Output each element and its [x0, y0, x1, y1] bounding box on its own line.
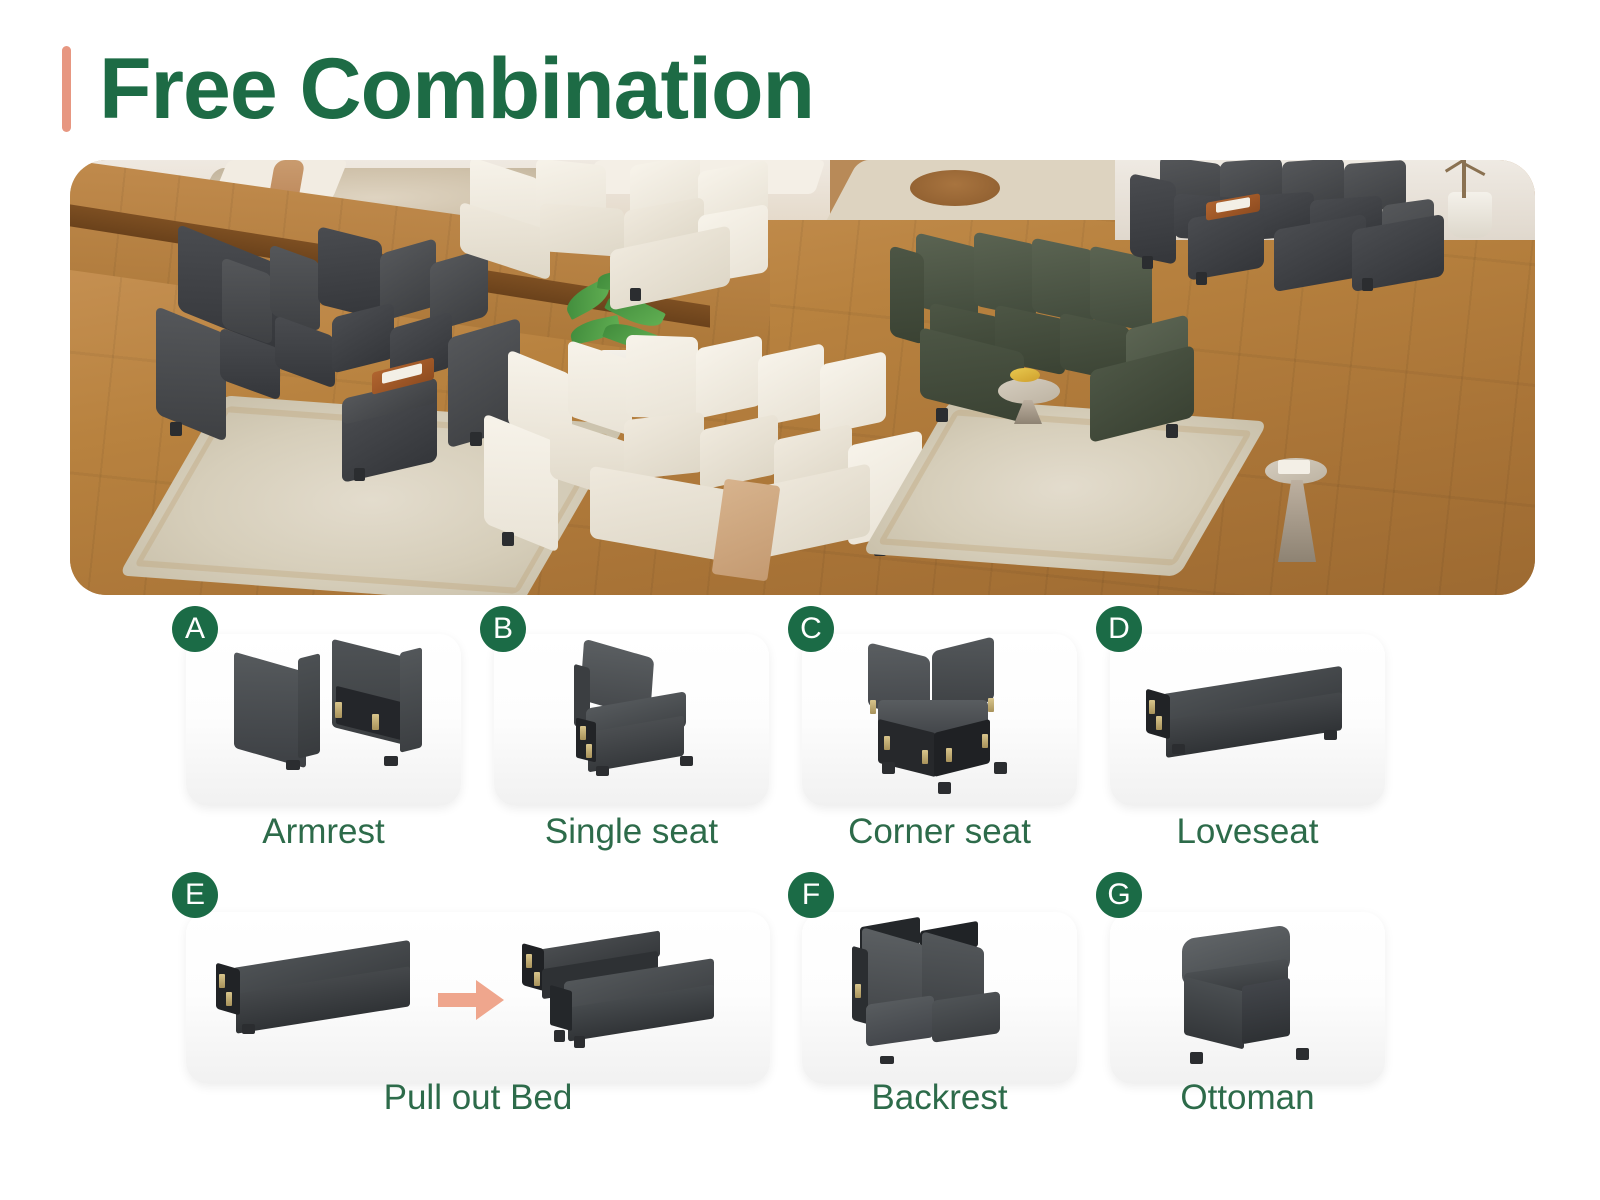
caption-single-seat: Single seat: [494, 812, 769, 852]
badge-b: B: [480, 606, 526, 652]
module-card-single-seat[interactable]: [494, 634, 769, 806]
sofa-cream-top-seat-2: [540, 203, 624, 257]
sofa-darkgray-corner: [318, 226, 382, 320]
page-title: Free Combination: [62, 46, 814, 132]
corner-seat-foot-3: [994, 762, 1007, 774]
title-accent-bar: [62, 46, 71, 132]
caption-corner-seat: Corner seat: [802, 812, 1077, 852]
pull-out-bed-open-foot-2: [574, 1036, 585, 1048]
sofa-cream-bottom-seat-2: [624, 412, 704, 480]
branch-plant-pot: [1448, 192, 1492, 238]
module-card-backrest[interactable]: [802, 912, 1077, 1084]
caption-pull-out-bed: Pull out Bed: [186, 1078, 770, 1118]
armrest-left-foot: [286, 760, 300, 770]
sofa-darkgray-tr-leg-2: [1196, 272, 1207, 285]
armrest-left-piece: [234, 656, 320, 762]
title-text: Free Combination: [99, 46, 814, 132]
side-table-paper: [1278, 460, 1310, 474]
badge-d: D: [1096, 606, 1142, 652]
sofa-cream-bottom-backrest-5: [820, 351, 886, 435]
sofa-darkgray-tr-leg-1: [1142, 256, 1153, 269]
pull-out-bed-open-foot-1: [554, 1030, 565, 1042]
single-seat-foot-1: [596, 766, 609, 776]
sofa-olive-leg-2: [1166, 424, 1178, 438]
caption-armrest: Armrest: [186, 812, 461, 852]
transform-arrow-icon: [438, 980, 504, 1020]
sofa-olive-armrest-left: [890, 245, 924, 345]
sofa-darkgray-tr-leg-3: [1362, 278, 1373, 291]
sofa-cream-bottom-corner: [626, 335, 698, 420]
background-coffee-table: [910, 170, 1000, 206]
sofa-darkgray-tr-armrest-left: [1130, 173, 1176, 265]
armrest-right-piece: [332, 648, 422, 762]
module-card-ottoman[interactable]: [1110, 912, 1385, 1084]
armrest-right-foot: [384, 756, 398, 766]
module-card-loveseat[interactable]: [1110, 634, 1385, 806]
pull-out-bed-open: [516, 940, 742, 1056]
caption-ottoman: Ottoman: [1110, 1078, 1385, 1118]
backrest-body: [850, 922, 1030, 1062]
single-seat-foot-2: [680, 756, 693, 766]
sofa-cream-bottom-backrest-4: [758, 343, 824, 427]
badge-g: G: [1096, 872, 1142, 918]
hero-scene: [70, 160, 1535, 595]
badge-e: E: [172, 872, 218, 918]
corner-seat-foot-1: [882, 762, 895, 774]
loveseat-foot-2: [1324, 730, 1337, 740]
module-card-armrest[interactable]: [186, 634, 461, 806]
hero-room-image: [70, 160, 1535, 595]
backrest-foot: [880, 1056, 894, 1064]
module-card-corner-seat[interactable]: [802, 634, 1077, 806]
ottoman-body: [1170, 932, 1330, 1060]
sofa-olive-backrest-3: [1032, 237, 1094, 324]
sofa-cream-bottom-backrest-3: [696, 335, 762, 419]
pull-out-bed-closed-foot: [242, 1024, 255, 1034]
badge-c: C: [788, 606, 834, 652]
ottoman-foot-1: [1190, 1052, 1203, 1064]
loveseat-foot-1: [1172, 744, 1185, 754]
badge-f: F: [788, 872, 834, 918]
sofa-olive-leg-1: [936, 408, 948, 422]
corner-seat-body: [860, 644, 1020, 780]
caption-backrest: Backrest: [802, 1078, 1077, 1118]
bowl-table-fruit: [1010, 368, 1040, 382]
sofa-cream-bottom-leg-1: [502, 532, 514, 546]
sofa-olive-backrest-2: [974, 231, 1036, 318]
ottoman-left-leg: [354, 468, 365, 481]
sofa-darkgray-leg-1: [170, 422, 182, 436]
module-card-pull-out-bed[interactable]: [186, 912, 770, 1084]
caption-loveseat: Loveseat: [1110, 812, 1385, 852]
ottoman-foot-2: [1296, 1048, 1309, 1060]
sofa-darkgray-leg-2: [470, 432, 482, 446]
badge-a: A: [172, 606, 218, 652]
corner-seat-foot-2: [938, 782, 951, 794]
sofa-cream-top-leg: [630, 288, 641, 301]
